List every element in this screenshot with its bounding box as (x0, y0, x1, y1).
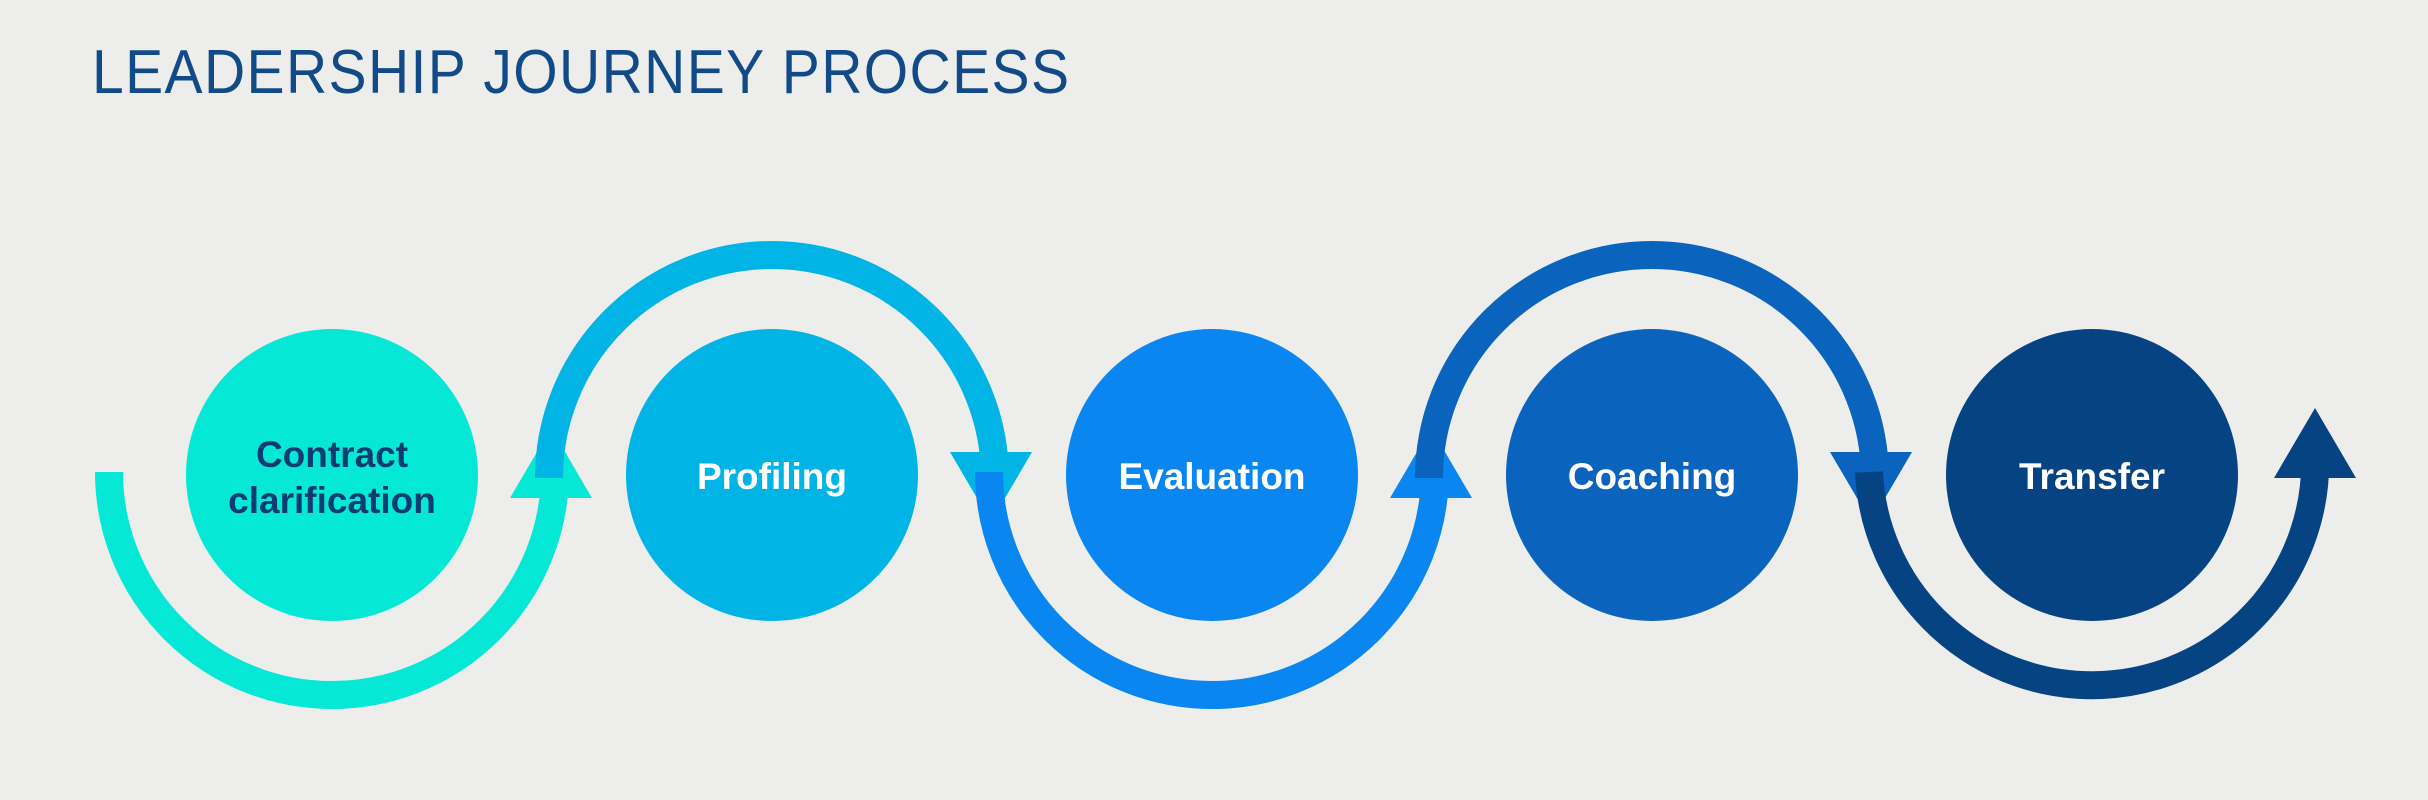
step-1-node[interactable]: Contract clarification (186, 329, 478, 621)
process-flow-svg: Contract clarification Profiling Evaluat… (0, 0, 2428, 800)
step-5-label: Transfer (2019, 456, 2165, 497)
step-4-label: Coaching (1568, 456, 1737, 497)
step-2-label: Profiling (697, 456, 847, 497)
step-1-label-line-1: Contract (256, 434, 408, 475)
step-5-node[interactable]: Transfer (1946, 329, 2238, 621)
step-4-node[interactable]: Coaching (1506, 329, 1798, 621)
step-1-circle[interactable] (186, 329, 478, 621)
step-3-label: Evaluation (1118, 456, 1305, 497)
step-2-node[interactable]: Profiling (626, 329, 918, 621)
diagram-canvas: LEADERSHIP JOURNEY PROCESS (0, 0, 2428, 800)
step-1-label-line-2: clarification (228, 480, 436, 521)
step-3-node[interactable]: Evaluation (1066, 329, 1358, 621)
connector-5-arrowhead-up-icon (2274, 408, 2356, 478)
